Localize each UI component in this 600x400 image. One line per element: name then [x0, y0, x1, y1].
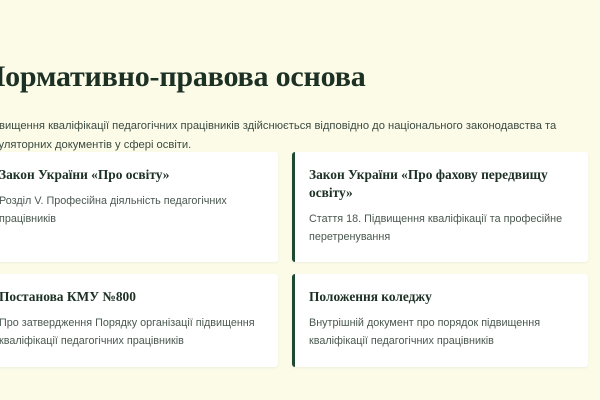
slide-root: Нормативно-правова основа Підвищення ква… [0, 0, 600, 400]
card-title: Постанова КМУ №800 [0, 288, 262, 306]
card-law-on-education[interactable]: Закон України «Про освіту» Розділ V. Про… [0, 152, 278, 262]
card-cabinet-resolution-800[interactable]: Постанова КМУ №800 Про затвердження Поря… [0, 274, 278, 367]
document-cards-grid: Закон України «Про освіту» Розділ V. Про… [0, 152, 600, 367]
card-title: Закон України «Про освіту» [0, 166, 262, 184]
card-description: Про затвердження Порядку організації під… [0, 315, 262, 350]
page-title: Нормативно-правова основа [0, 60, 366, 94]
card-law-on-professional-higher-education[interactable]: Закон України «Про фахову передвищу осві… [292, 152, 588, 262]
card-description: Внутрішній документ про порядок підвищен… [309, 315, 572, 350]
card-college-regulation[interactable]: Положення коледжу Внутрішній документ пр… [292, 274, 588, 367]
card-description: Стаття 18. Підвищення кваліфікації та пр… [309, 211, 572, 246]
card-title: Закон України «Про фахову передвищу осві… [309, 166, 572, 202]
card-title: Положення коледжу [309, 288, 572, 306]
intro-paragraph: Підвищення кваліфікації педагогічних пра… [0, 117, 568, 154]
card-description: Розділ V. Професійна діяльність педагогі… [0, 193, 262, 228]
